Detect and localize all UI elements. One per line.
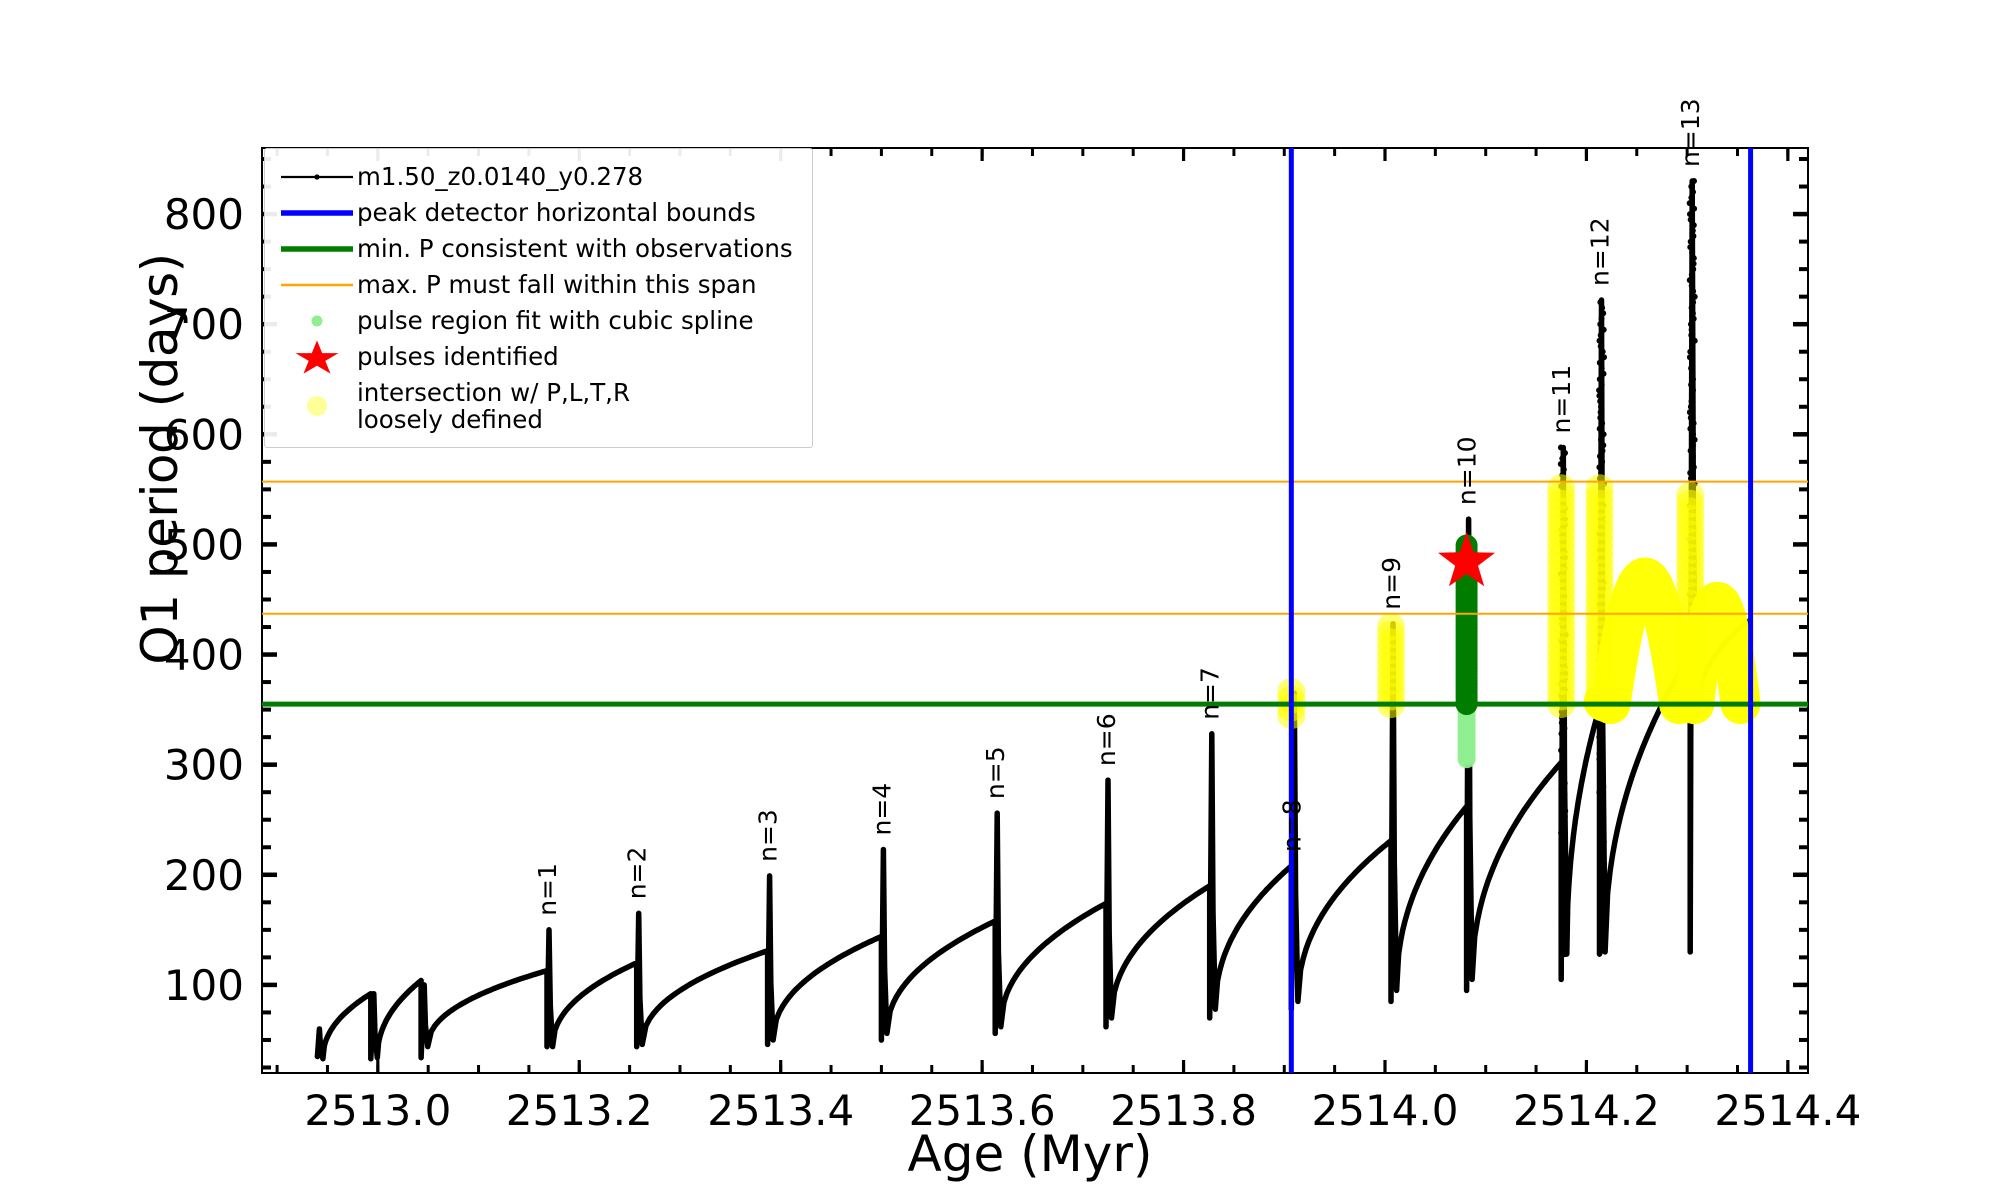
legend-label-intersection: intersection w/ P,L,T,R loosely defined <box>357 379 630 434</box>
series-marker <box>1404 912 1409 917</box>
series-marker <box>1559 841 1565 847</box>
series-marker <box>1164 914 1169 919</box>
series-marker <box>1561 736 1567 742</box>
series-marker <box>1688 195 1694 201</box>
series-marker <box>607 974 612 979</box>
series-marker <box>1561 924 1567 930</box>
series-marker <box>1599 305 1605 311</box>
series-marker <box>1615 826 1620 831</box>
series-marker <box>1599 877 1605 883</box>
series-marker <box>1561 835 1567 841</box>
series-marker <box>1600 442 1606 448</box>
series-marker <box>1559 775 1565 781</box>
series-marker <box>907 977 912 982</box>
series-marker <box>1514 819 1519 824</box>
series-marker <box>1233 929 1238 934</box>
series-marker <box>1219 960 1224 965</box>
series-marker <box>1688 382 1694 388</box>
series-marker <box>643 1023 648 1028</box>
series-marker <box>1445 828 1450 833</box>
green-line-key-icon <box>277 231 357 267</box>
pulse-annotation-label: n=5 <box>981 746 1010 799</box>
series-marker <box>1690 442 1696 448</box>
series-marker <box>622 966 627 971</box>
series-marker <box>1596 789 1602 795</box>
series-marker <box>1375 849 1380 854</box>
series-marker <box>1141 937 1146 942</box>
series-marker <box>1561 467 1567 473</box>
series-marker <box>1571 832 1576 837</box>
series-marker <box>1583 763 1588 768</box>
series-marker <box>1601 327 1607 333</box>
series-marker <box>457 1003 462 1008</box>
series-marker <box>1635 758 1640 763</box>
series-marker <box>1551 769 1556 774</box>
series-marker <box>1558 764 1564 770</box>
series-marker <box>1408 899 1413 904</box>
series-marker <box>958 937 963 942</box>
series-marker <box>1620 806 1625 811</box>
series-marker <box>710 970 715 975</box>
legend-label-peak-bounds: peak detector horizontal bounds <box>357 199 756 226</box>
series-marker <box>1558 918 1564 924</box>
series-marker <box>1464 988 1469 993</box>
series-marker <box>1597 398 1603 404</box>
series-marker <box>926 959 931 964</box>
series-marker <box>325 1035 330 1040</box>
series-marker <box>1562 791 1568 797</box>
series-marker <box>739 958 744 963</box>
series-marker <box>1147 930 1152 935</box>
series-marker <box>1600 866 1606 872</box>
legend-item-min-period: min. P consistent with observations <box>277 231 800 267</box>
series-marker <box>1493 859 1498 864</box>
series-marker <box>1400 928 1405 933</box>
y-tick-label: 100 <box>164 961 244 1010</box>
series-marker <box>1687 211 1693 217</box>
series-marker <box>1562 902 1568 908</box>
series-marker <box>1057 930 1062 935</box>
series-marker <box>1599 729 1605 735</box>
series-marker <box>1690 387 1696 393</box>
series-marker <box>1358 865 1363 870</box>
y-axis-label: O1 period (days) <box>131 179 189 739</box>
series-marker <box>544 1044 549 1049</box>
series-marker <box>1562 935 1568 941</box>
series-marker <box>632 961 637 966</box>
pulse-annotation-label: n=11 <box>1547 365 1576 434</box>
series-marker <box>1598 927 1604 933</box>
series-marker <box>1026 957 1031 962</box>
series-marker <box>1598 822 1604 828</box>
series-marker <box>1690 228 1696 234</box>
series-marker <box>1599 916 1605 922</box>
series-marker <box>1596 464 1602 470</box>
series-marker <box>1689 371 1695 377</box>
series-marker <box>1600 811 1606 817</box>
pulse-annotation-label: n=1 <box>533 863 562 916</box>
series-marker <box>423 1022 428 1027</box>
series-marker <box>806 976 811 981</box>
blue-line-key-icon <box>277 195 357 231</box>
series-marker <box>1558 747 1564 753</box>
series-marker <box>592 983 597 988</box>
series-marker <box>1598 343 1604 349</box>
series-marker <box>1689 398 1695 404</box>
series-marker <box>1600 855 1606 861</box>
series-marker <box>951 941 956 946</box>
series-marker <box>1610 852 1615 857</box>
intersection-arc <box>1694 602 1740 704</box>
series-marker <box>1504 837 1509 842</box>
series-marker <box>1525 803 1530 808</box>
series-marker <box>520 976 525 981</box>
pulse-annotation-label: n=7 <box>1196 667 1225 720</box>
series-marker <box>1690 189 1696 195</box>
series-marker <box>1598 943 1604 949</box>
series-marker <box>1417 878 1422 883</box>
series-marker <box>1691 261 1697 267</box>
series-marker <box>368 1056 373 1061</box>
series-marker <box>1599 817 1605 823</box>
series-marker <box>1558 830 1564 836</box>
series-marker <box>315 1054 320 1059</box>
series-marker <box>1561 769 1567 775</box>
series-marker <box>894 994 899 999</box>
series-marker <box>768 980 773 985</box>
series-marker <box>1246 908 1251 913</box>
legend-label-series: m1.50_z0.0140_y0.278 <box>357 163 643 190</box>
series-marker <box>1691 206 1697 212</box>
series-marker <box>1691 255 1697 261</box>
series-marker <box>1689 360 1695 366</box>
series-marker <box>1597 894 1603 900</box>
pulse-annotation-label: n=3 <box>754 809 783 862</box>
series-marker <box>1207 1015 1212 1020</box>
legend-label-min-period: min. P consistent with observations <box>357 235 793 262</box>
series-marker <box>1596 387 1602 393</box>
series-marker <box>996 949 1001 954</box>
series-marker <box>1386 840 1391 845</box>
series-marker <box>879 1037 884 1042</box>
series-marker <box>1187 897 1192 902</box>
series-marker <box>557 1017 562 1022</box>
series-marker <box>695 978 700 983</box>
series-marker <box>1599 420 1605 426</box>
intersection-arc <box>1611 578 1680 705</box>
series-marker <box>1598 773 1604 779</box>
series-marker <box>1038 945 1043 950</box>
series-marker <box>384 1018 389 1023</box>
series-marker <box>1567 871 1572 876</box>
series-marker <box>1558 461 1564 467</box>
series-marker <box>627 964 632 969</box>
series-marker <box>724 964 729 969</box>
red-star-key-icon <box>277 339 357 375</box>
series-marker <box>450 1007 455 1012</box>
pulse-annotation-label: n=10 <box>1453 436 1482 505</box>
series-marker <box>1336 889 1341 894</box>
series-marker <box>1530 796 1535 801</box>
pulse-annotation-label: n=13 <box>1676 98 1705 167</box>
series-marker <box>1600 910 1606 916</box>
series-marker <box>1498 848 1503 853</box>
series-marker <box>1558 786 1564 792</box>
y-tick-label: 300 <box>164 741 244 790</box>
series-marker <box>1599 745 1605 751</box>
series-marker <box>1600 310 1606 316</box>
series-marker <box>1076 917 1081 922</box>
series-marker <box>993 1031 998 1036</box>
series-marker <box>1559 977 1564 982</box>
series-marker <box>1588 737 1593 742</box>
series-marker <box>1655 711 1660 716</box>
series-marker <box>1689 272 1695 278</box>
series-marker <box>1298 967 1303 972</box>
pulse-annotation-label: n=4 <box>867 783 896 836</box>
series-marker <box>1020 965 1025 970</box>
series-marker <box>552 1027 557 1032</box>
series-marker <box>1688 448 1694 454</box>
series-marker <box>1347 876 1352 881</box>
series-marker <box>1063 925 1068 930</box>
series-marker <box>1597 321 1603 327</box>
series-marker <box>1692 294 1698 300</box>
series-marker <box>665 997 670 1002</box>
series-marker <box>1051 935 1056 940</box>
series-marker <box>1273 878 1278 883</box>
series-marker <box>1353 870 1358 875</box>
series-marker <box>1601 921 1607 927</box>
series-marker <box>1437 841 1442 846</box>
series-marker <box>1562 813 1568 819</box>
series-marker <box>485 989 490 994</box>
series-marker <box>597 980 602 985</box>
series-marker <box>1687 244 1693 250</box>
series-marker <box>1215 978 1220 983</box>
series-marker <box>1559 456 1565 462</box>
series-marker <box>1441 834 1446 839</box>
legend-item-series: m1.50_z0.0140_y0.278 <box>277 159 800 195</box>
series-marker <box>831 958 836 963</box>
series-marker <box>1689 283 1695 289</box>
series-marker <box>1691 464 1697 470</box>
series-marker <box>1689 343 1695 349</box>
series-marker <box>673 991 678 996</box>
series-marker <box>1687 200 1693 206</box>
series-marker <box>983 923 988 928</box>
series-marker <box>780 1004 785 1009</box>
series-line-key-icon <box>277 159 357 195</box>
series-marker <box>913 970 918 975</box>
series-marker <box>1260 892 1265 897</box>
series-marker <box>818 966 823 971</box>
series-marker <box>1561 824 1567 830</box>
series-marker <box>1598 767 1604 773</box>
series-marker <box>1599 762 1605 768</box>
legend-item-spline: pulse region fit with cubic spline <box>277 303 800 339</box>
series-marker <box>977 926 982 931</box>
series-marker <box>1600 349 1606 355</box>
x-axis-label: Age (Myr) <box>260 1125 1800 1183</box>
series-marker <box>1369 854 1374 859</box>
series-marker <box>1597 751 1603 757</box>
series-marker <box>1597 338 1603 344</box>
series-marker <box>1325 903 1330 908</box>
series-marker <box>1158 919 1163 924</box>
series-marker <box>1599 382 1605 388</box>
series-marker <box>1454 817 1459 822</box>
series-marker <box>1691 420 1697 426</box>
series-marker <box>1690 453 1696 459</box>
series-marker <box>1210 910 1215 915</box>
series-marker <box>1014 973 1019 978</box>
series-marker <box>1458 812 1463 817</box>
series-marker <box>1007 984 1012 989</box>
series-marker <box>436 1019 441 1024</box>
series-marker <box>1605 891 1610 896</box>
series-marker <box>1032 951 1037 956</box>
series-marker <box>812 971 817 976</box>
series-marker <box>1559 720 1565 726</box>
series-marker <box>1688 321 1694 327</box>
series-marker <box>888 1009 893 1014</box>
series-marker <box>1103 1024 1108 1029</box>
series-marker <box>1001 1000 1006 1005</box>
series-marker <box>1560 802 1566 808</box>
series-marker <box>527 973 532 978</box>
series-marker <box>1562 450 1568 456</box>
legend-label-spline: pulse region fit with cubic spline <box>357 307 754 334</box>
series-marker <box>1045 940 1050 945</box>
series-marker <box>1175 905 1180 910</box>
series-marker <box>1597 949 1603 955</box>
series-marker <box>1561 863 1567 869</box>
series-marker <box>1380 845 1385 850</box>
series-marker <box>844 951 849 956</box>
series-marker <box>381 1023 386 1028</box>
series-marker <box>1562 780 1568 786</box>
series-marker <box>717 967 722 972</box>
series-marker <box>1690 299 1696 305</box>
series-marker <box>1559 758 1565 764</box>
series-marker <box>534 971 539 976</box>
series-marker <box>1689 327 1695 333</box>
series-marker <box>1342 882 1347 887</box>
series-marker <box>1688 475 1694 481</box>
series-marker <box>1598 888 1604 894</box>
series-marker <box>1599 806 1605 812</box>
series-marker <box>1599 932 1605 938</box>
series-marker <box>478 992 483 997</box>
series-marker <box>1112 989 1117 994</box>
series-marker <box>1118 972 1123 977</box>
series-marker <box>658 1003 663 1008</box>
series-marker <box>1601 354 1607 360</box>
intersection-marker <box>1377 613 1405 641</box>
series-marker <box>1690 288 1696 294</box>
legend-item-pulses: pulses identified <box>277 339 800 375</box>
series-marker <box>1688 949 1693 954</box>
series-marker <box>1228 937 1233 942</box>
series-marker <box>602 977 607 982</box>
series-marker <box>1309 932 1314 937</box>
figure-canvas: 2513.02513.22513.42513.62513.82514.02514… <box>0 0 2000 1200</box>
series-marker <box>1509 828 1514 833</box>
series-marker <box>1069 921 1074 926</box>
series-marker <box>945 945 950 950</box>
series-marker <box>1123 961 1128 966</box>
series-marker <box>1561 797 1567 803</box>
series-marker <box>1650 722 1655 727</box>
series-marker <box>1599 316 1605 322</box>
series-marker <box>1689 250 1695 256</box>
series-marker <box>1519 811 1524 816</box>
series-marker <box>1320 912 1325 917</box>
series-marker <box>1193 893 1198 898</box>
series-marker <box>1601 839 1607 845</box>
series-marker <box>1597 828 1603 834</box>
series-marker <box>572 999 577 1004</box>
series-marker <box>882 966 887 971</box>
series-marker <box>1596 756 1602 762</box>
series-marker <box>1135 944 1140 949</box>
series-marker <box>1692 437 1698 443</box>
series-marker <box>876 935 881 940</box>
series-marker <box>837 954 842 959</box>
series-marker <box>1560 946 1566 952</box>
series-marker <box>1242 915 1247 920</box>
series-marker <box>1688 184 1694 190</box>
series-marker <box>1107 932 1112 937</box>
series-marker <box>1450 822 1455 827</box>
series-marker <box>1413 888 1418 893</box>
series-marker <box>1559 847 1565 853</box>
series-marker <box>1692 338 1698 344</box>
series-marker <box>1598 905 1604 911</box>
series-marker <box>989 920 994 925</box>
series-marker <box>1304 946 1309 951</box>
series-marker <box>702 974 707 979</box>
series-marker <box>1251 903 1256 908</box>
series-marker <box>443 1013 448 1018</box>
pulse-annotation-label: n=8 <box>1277 799 1306 852</box>
series-marker <box>1421 870 1426 875</box>
series-marker <box>1561 725 1567 731</box>
series-marker <box>1094 906 1099 911</box>
series-marker <box>1579 782 1584 787</box>
series-marker <box>1170 910 1175 915</box>
intersection-marker <box>1586 474 1614 502</box>
series-marker <box>1687 470 1693 476</box>
series-marker <box>1599 365 1605 371</box>
series-marker <box>1560 753 1566 759</box>
series-marker <box>1433 847 1438 852</box>
series-marker <box>850 948 855 953</box>
series-marker <box>754 952 759 957</box>
series-marker <box>637 996 642 1001</box>
series-marker <box>1573 818 1578 823</box>
legend: m1.50_z0.0140_y0.278 peak detector horiz… <box>264 148 813 448</box>
series-marker <box>612 971 617 976</box>
series-marker <box>1577 793 1582 798</box>
series-marker <box>1569 849 1574 854</box>
series-marker <box>548 1003 553 1008</box>
series-marker <box>1645 733 1650 738</box>
series-marker <box>582 990 587 995</box>
series-marker <box>1483 887 1488 892</box>
series-marker <box>1462 806 1467 811</box>
